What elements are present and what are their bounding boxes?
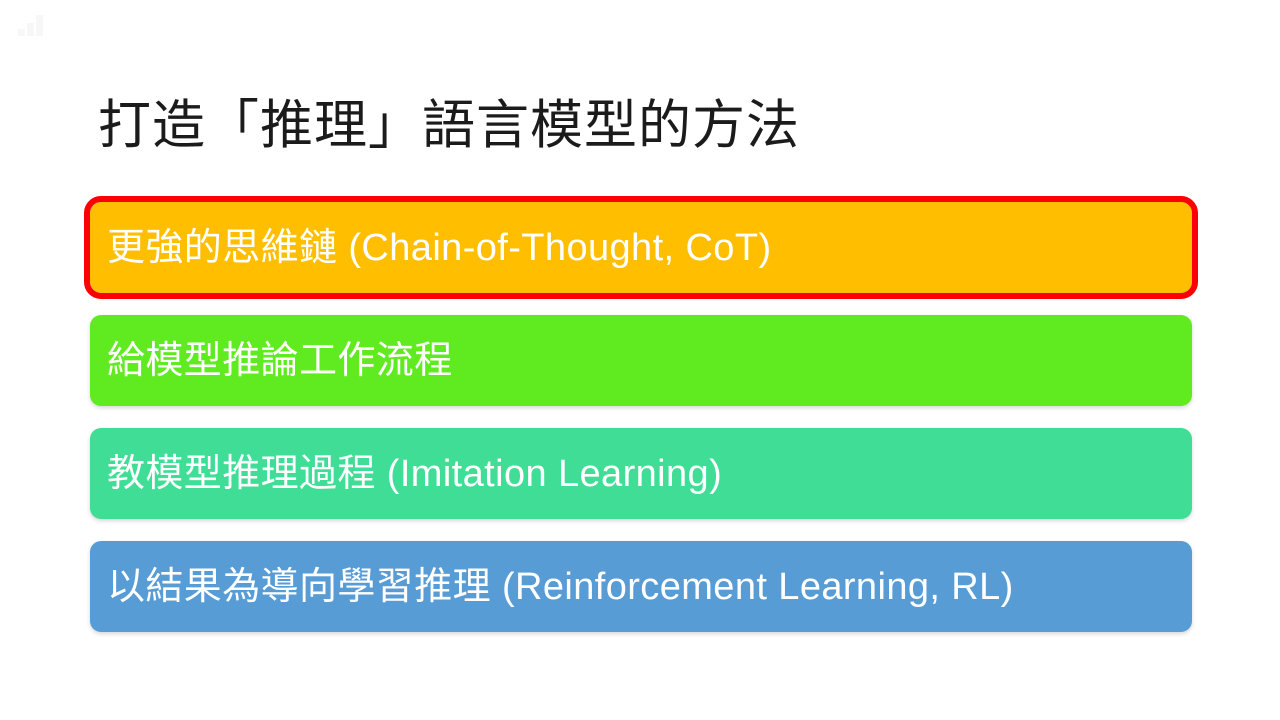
method-bar-imitation-learning[interactable]: 教模型推理過程 (Imitation Learning) xyxy=(90,428,1192,519)
method-bar-label: 以結果為導向學習推理 (Reinforcement Learning, RL) xyxy=(107,564,1014,610)
presentation-slide: 打造「推理」語言模型的方法 更強的思維鏈 (Chain-of-Thought, … xyxy=(0,0,1280,720)
method-list: 更強的思維鏈 (Chain-of-Thought, CoT) 給模型推論工作流程… xyxy=(90,202,1192,632)
method-bar-chain-of-thought[interactable]: 更強的思維鏈 (Chain-of-Thought, CoT) xyxy=(90,202,1192,293)
method-bar-reinforcement-learning[interactable]: 以結果為導向學習推理 (Reinforcement Learning, RL) xyxy=(90,541,1192,632)
method-bar-label: 更強的思維鏈 (Chain-of-Thought, CoT) xyxy=(107,225,772,271)
method-bar-workflow[interactable]: 給模型推論工作流程 xyxy=(90,315,1192,406)
watermark-icon xyxy=(18,14,50,36)
method-bar-label: 給模型推論工作流程 xyxy=(107,338,453,384)
slide-title: 打造「推理」語言模型的方法 xyxy=(98,93,800,159)
method-bar-label: 教模型推理過程 (Imitation Learning) xyxy=(107,451,722,497)
